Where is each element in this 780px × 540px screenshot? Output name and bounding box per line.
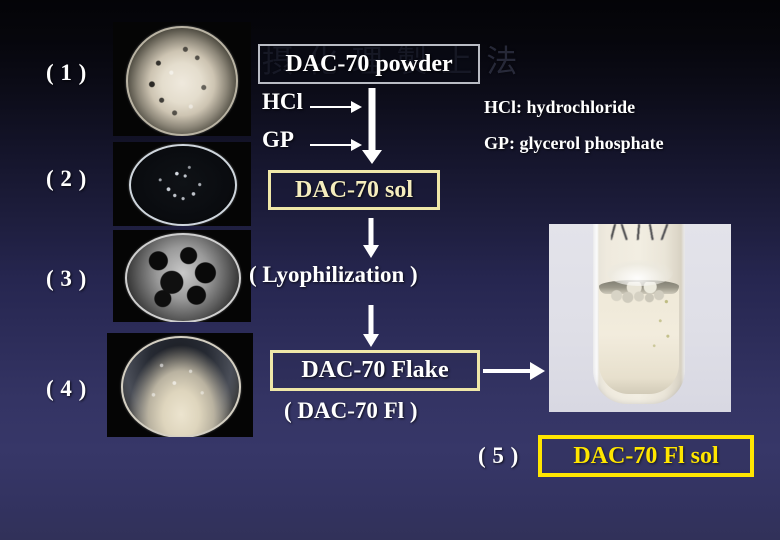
step-number-3: ( 3 ) [46,266,87,292]
arrow-powder-to-sol [361,88,383,164]
vial-handwritten-label [611,224,673,240]
photo-flake-dish [107,333,253,437]
photo-lyophilized-foam-dish [113,230,251,322]
arrow-flake-to-vial [483,362,545,380]
box-dac70-flake[interactable]: DAC-70 Flake [270,350,480,391]
box-dac70-powder[interactable]: DAC-70 powder [258,44,480,84]
arrow-sol-to-lyophilization [362,218,380,258]
label-hcl: HCl [262,89,303,115]
vial-foam [607,260,673,286]
step-number-5: ( 5 ) [478,443,519,469]
label-lyophilization: ( Lyophilization ) [249,262,418,288]
label-gp: GP [262,127,294,153]
legend-hcl: HCl: hydrochloride [484,97,635,118]
vial-specks [601,292,677,388]
legend-gp: GP: glycerol phosphate [484,133,664,154]
arrow-hcl-right [310,100,362,114]
label-flake-abbrev: ( DAC-70 Fl ) [284,398,418,424]
photo-sol-dish [113,142,251,226]
box-dac70-sol[interactable]: DAC-70 sol [268,170,440,210]
arrow-lyophilization-to-flake [362,305,380,347]
photo-powder-dish [113,22,251,136]
step-number-2: ( 2 ) [46,166,87,192]
box-dac70-fl-sol[interactable]: DAC-70 Fl sol [538,435,754,477]
step-number-4: ( 4 ) [46,376,87,402]
step-number-1: ( 1 ) [46,60,87,86]
slide-canvas: 摂 化 理 製 上 法 ( 1 ) ( 2 ) ( 3 ) ( 4 ) ( 5 … [0,0,780,540]
arrow-gp-right [310,138,362,152]
photo-vial-fl-sol [549,224,731,412]
